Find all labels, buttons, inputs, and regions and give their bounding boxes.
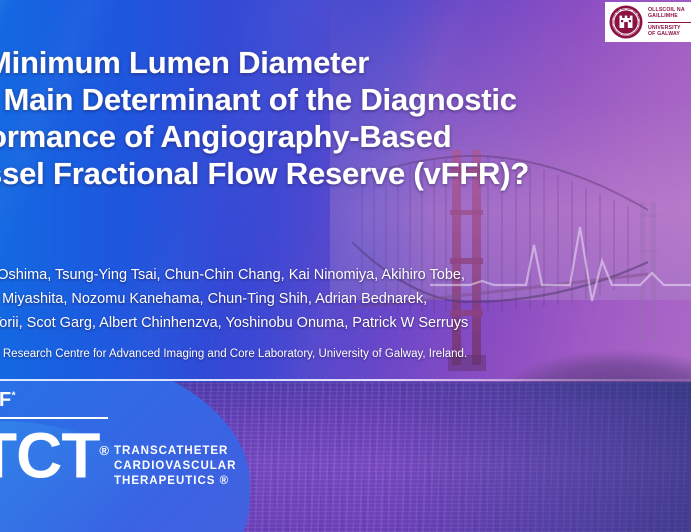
- university-wordmark: OLLSCOIL NA GAILLIMHE UNIVERSITY OF GALW…: [648, 7, 691, 37]
- author-line-1: i Oshima, Tsung-Ying Tsai, Chun-Chin Cha…: [0, 263, 691, 287]
- tct-tagline-line-1: TRANSCATHETER: [114, 444, 236, 459]
- university-name-english-line-2: OF GALWAY: [648, 31, 691, 37]
- title-line-2: e Main Determinant of the Diagnostic: [0, 81, 691, 118]
- crf-wordmark: RF*: [0, 389, 16, 412]
- title-line-4: essel Fractional Flow Reserve (vFFR)?: [0, 155, 691, 192]
- tct-registered-mark: ®: [99, 443, 108, 458]
- tct-tagline: TRANSCATHETER CARDIOVASCULAR THERAPEUTIC…: [114, 444, 236, 489]
- title-line-1: Minimum Lumen Diameter: [0, 44, 691, 81]
- tct-wordmark: TCT®: [0, 419, 108, 487]
- tct-text: TCT: [0, 419, 99, 491]
- university-of-galway-logo: OLLSCOIL NA GAILLIMHE UNIVERSITY OF GALW…: [605, 2, 691, 42]
- crf-text: RF: [0, 389, 12, 411]
- affiliation-text: B Research Centre for Advanced Imaging a…: [0, 347, 467, 362]
- crf-trademark-mark: *: [12, 390, 16, 401]
- title-line-3: rformance of Angiography-Based: [0, 118, 691, 155]
- author-line-2: o Miyashita, Nozomu Kanehama, Chun-Ting …: [0, 287, 691, 311]
- author-list: i Oshima, Tsung-Ying Tsai, Chun-Chin Cha…: [0, 263, 691, 335]
- university-crest-icon: [609, 5, 643, 39]
- slide-title: Minimum Lumen Diameter e Main Determinan…: [0, 44, 691, 192]
- tct-tagline-line-3: THERAPEUTICS ®: [114, 474, 236, 489]
- university-wordmark-rule: [648, 22, 691, 23]
- university-name-irish-line-2: GAILLIMHE: [648, 13, 691, 19]
- tct-logo: RF* TCT® TRANSCATHETER CARDIOVASCULAR TH…: [0, 381, 300, 532]
- author-line-3: Torii, Scot Garg, Albert Chinhenzva, Yos…: [0, 311, 691, 335]
- tct-tagline-line-2: CARDIOVASCULAR: [114, 459, 236, 474]
- presentation-slide: Minimum Lumen Diameter e Main Determinan…: [0, 0, 691, 532]
